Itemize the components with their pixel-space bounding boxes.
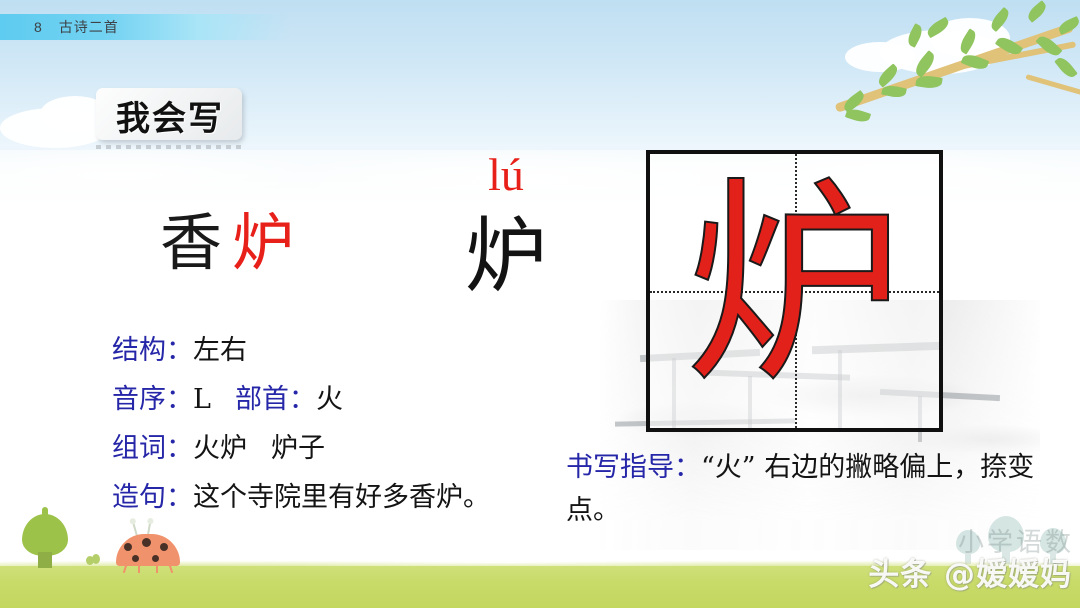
ladybug-spot — [132, 555, 139, 562]
breadcrumb: 8古诗二首 — [34, 17, 119, 37]
words-label: 组词： — [112, 433, 193, 464]
word-sample-first-char: 香 — [160, 206, 222, 279]
leaf — [845, 107, 871, 125]
structure-label: 结构： — [112, 335, 193, 366]
ladybug-body — [116, 534, 180, 566]
target-character: 炉 — [436, 216, 576, 298]
lesson-number: 8 — [34, 19, 43, 35]
leaf — [925, 17, 951, 39]
word-sample: 香炉 — [160, 212, 294, 274]
character-info-list: 结构：左右 音序：L部首：火 组词：火炉炉子 造句：这个寺院里有好多香炉。 — [112, 326, 582, 522]
word-sample-target-char: 炉 — [232, 206, 294, 279]
grid-character: 炉 — [650, 154, 939, 428]
info-row-initial-radical: 音序：L部首：火 — [112, 375, 582, 424]
ladybug-leg — [156, 565, 158, 573]
channel-watermark: 头条 @嫒嫒妈 — [868, 549, 1072, 594]
ladybug-spot — [142, 538, 151, 547]
ladybug-spot — [160, 543, 168, 551]
structure-value: 左右 — [193, 335, 247, 366]
sprout-decoration — [86, 554, 100, 566]
tree-trunk — [38, 552, 52, 568]
leaf — [988, 7, 1012, 32]
tree-crown — [22, 514, 68, 556]
radical-label: 部首： — [235, 384, 316, 415]
initial-label: 音序： — [112, 384, 193, 415]
leaf — [1054, 55, 1077, 81]
ladybug-spot — [124, 543, 132, 551]
leaf — [957, 28, 979, 54]
radical-value: 火 — [316, 384, 343, 415]
guidance-label: 书写指导： — [566, 452, 701, 483]
plaque-underline — [96, 145, 246, 149]
character-grid-box: 炉 — [646, 150, 943, 432]
section-title: 我会写 — [104, 92, 236, 138]
sprout-leaf — [92, 554, 100, 564]
foreground-tree — [22, 514, 68, 568]
lesson-title: 古诗二首 — [59, 19, 119, 35]
tree-branch-decoration — [830, 0, 1080, 130]
ladybug-leg — [138, 565, 140, 573]
words-value-second: 炉子 — [271, 433, 325, 464]
ladybug-spot — [152, 555, 159, 562]
leaf — [915, 74, 942, 90]
slide-canvas: 8古诗二首 我会写 香炉 lú 炉 结构：左右 音序：L部首：火 组词：火炉炉子… — [0, 0, 1080, 608]
info-row-structure: 结构：左右 — [112, 326, 582, 375]
initial-value: L — [193, 384, 211, 415]
leaf — [905, 23, 925, 48]
words-value-first: 火炉 — [193, 433, 247, 464]
sentence-value: 这个寺院里有好多香炉。 — [193, 482, 490, 513]
info-row-sentence: 造句：这个寺院里有好多香炉。 — [112, 473, 582, 522]
pinyin-label: lú — [446, 152, 566, 198]
ladybug-decoration — [116, 528, 180, 566]
leaf — [1025, 0, 1049, 23]
info-row-words: 组词：火炉炉子 — [112, 424, 582, 473]
sentence-label: 造句： — [112, 482, 193, 513]
